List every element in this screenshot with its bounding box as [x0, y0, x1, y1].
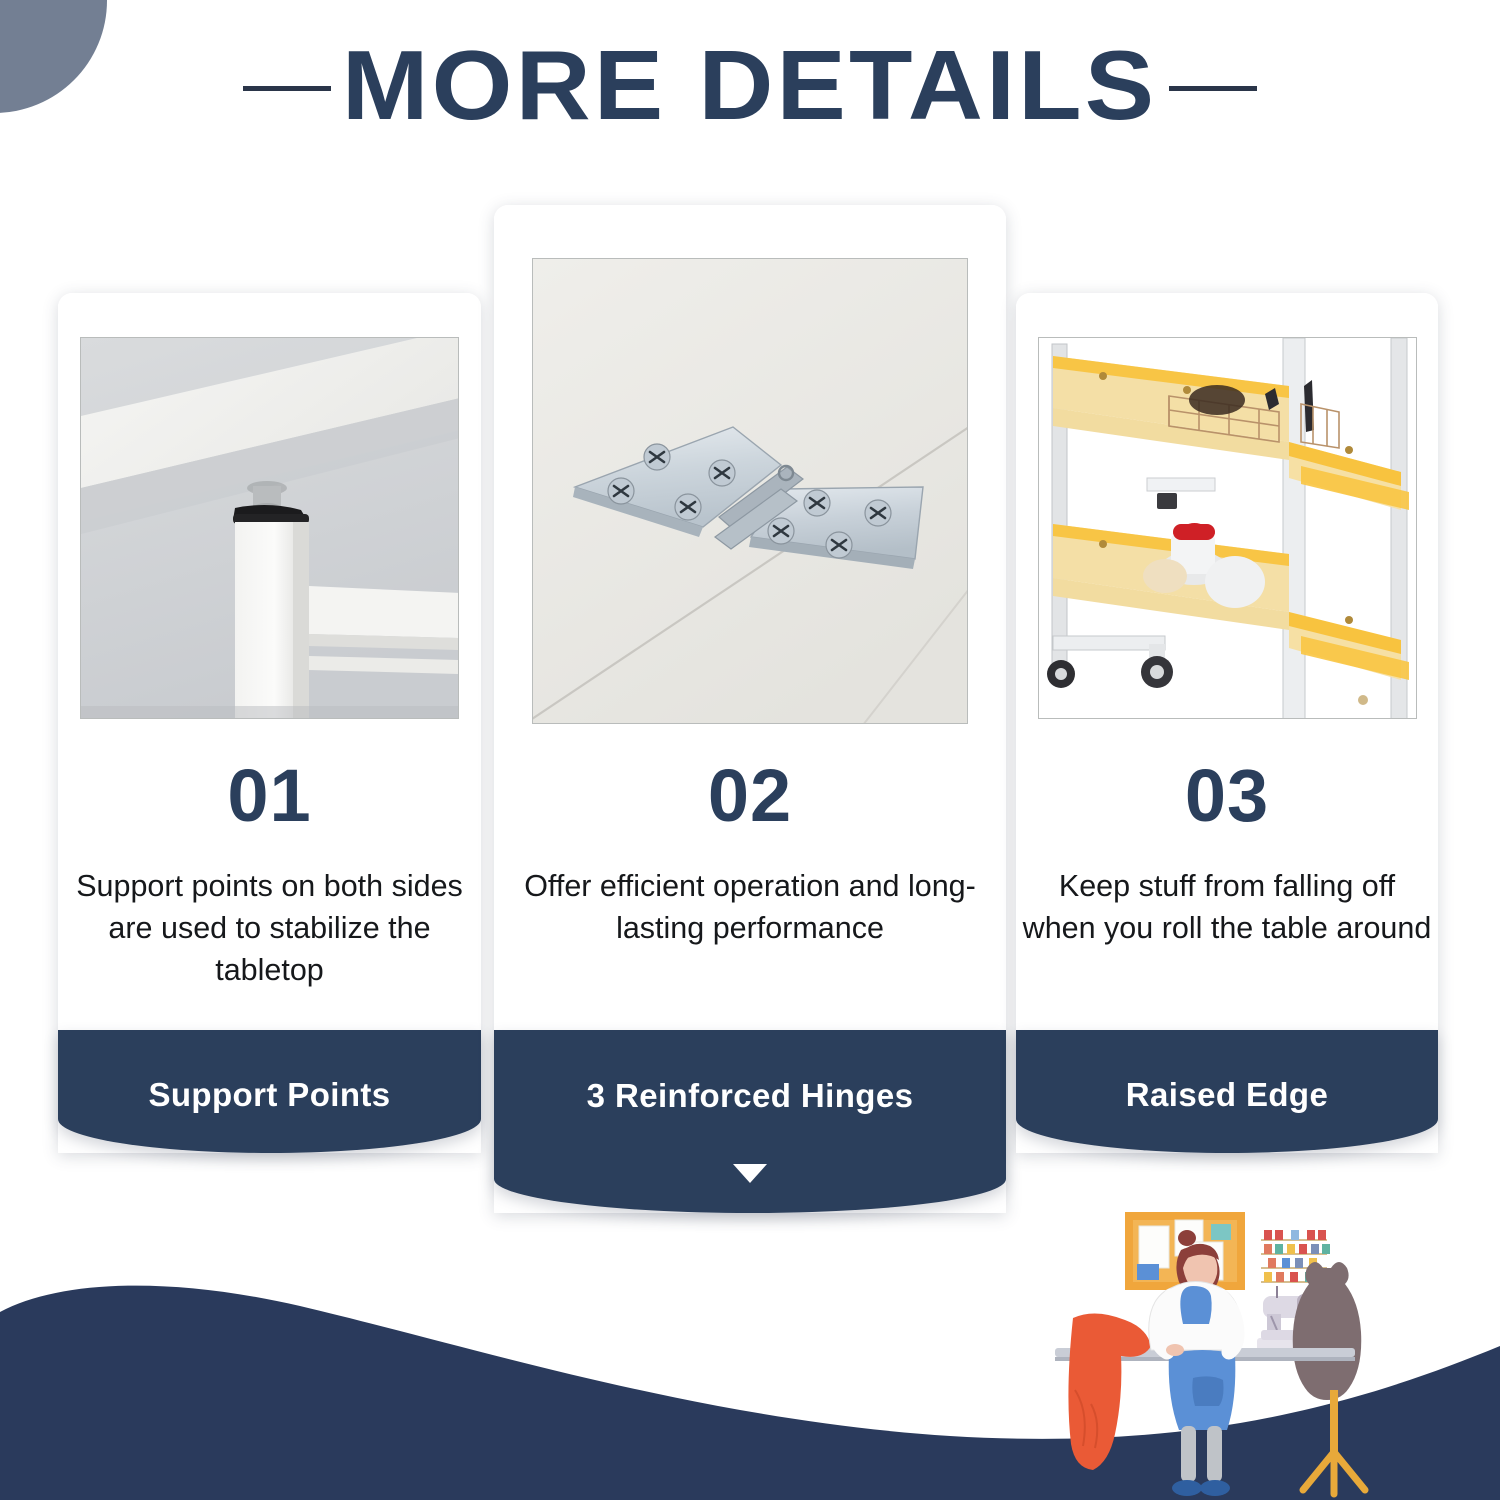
card-2-footer: 3 Reinforced Hinges — [494, 1030, 1006, 1213]
detail-card-3[interactable]: 03 Keep stuff from falling off when you … — [1016, 293, 1438, 1153]
card-2-description: Offer efficient operation and long-lasti… — [494, 865, 1006, 949]
page-header: MORE DETAILS — [0, 30, 1500, 140]
dress-form-mannequin-icon — [1293, 1262, 1365, 1494]
page-title: MORE DETAILS — [342, 36, 1157, 134]
sewing-workshop-illustration — [1035, 1190, 1465, 1500]
card-2-footer-label: 3 Reinforced Hinges — [494, 1077, 1006, 1115]
card-1-description: Support points on both sides are used to… — [58, 865, 481, 991]
card-3-footer-label: Raised Edge — [1016, 1076, 1438, 1114]
card-3-number: 03 — [1016, 759, 1438, 833]
card-2-photo — [532, 258, 968, 724]
card-1-footer: Support Points — [58, 1030, 481, 1153]
card-2-number: 02 — [494, 759, 1006, 833]
table-leg-support-point-photo — [81, 338, 459, 719]
red-fabric-icon — [1068, 1313, 1151, 1470]
detail-card-1[interactable]: 01 Support points on both sides are used… — [58, 293, 481, 1153]
title-dash-left-icon — [243, 86, 331, 91]
card-1-footer-label: Support Points — [58, 1076, 481, 1114]
rolling-cart-raised-edge-photo — [1039, 338, 1417, 719]
card-3-description: Keep stuff from falling off when you rol… — [1016, 865, 1438, 949]
card-3-footer: Raised Edge — [1016, 1030, 1438, 1153]
card-3-photo — [1038, 337, 1417, 719]
chevron-down-icon[interactable] — [733, 1164, 767, 1183]
infographic-page: MORE DETAILS — [0, 0, 1500, 1500]
card-1-photo — [80, 337, 459, 719]
metal-hinge-closeup-photo — [533, 259, 968, 724]
card-1-number: 01 — [58, 759, 481, 833]
title-dash-right-icon — [1169, 86, 1257, 91]
detail-card-2[interactable]: 02 Offer efficient operation and long-la… — [494, 205, 1006, 1213]
